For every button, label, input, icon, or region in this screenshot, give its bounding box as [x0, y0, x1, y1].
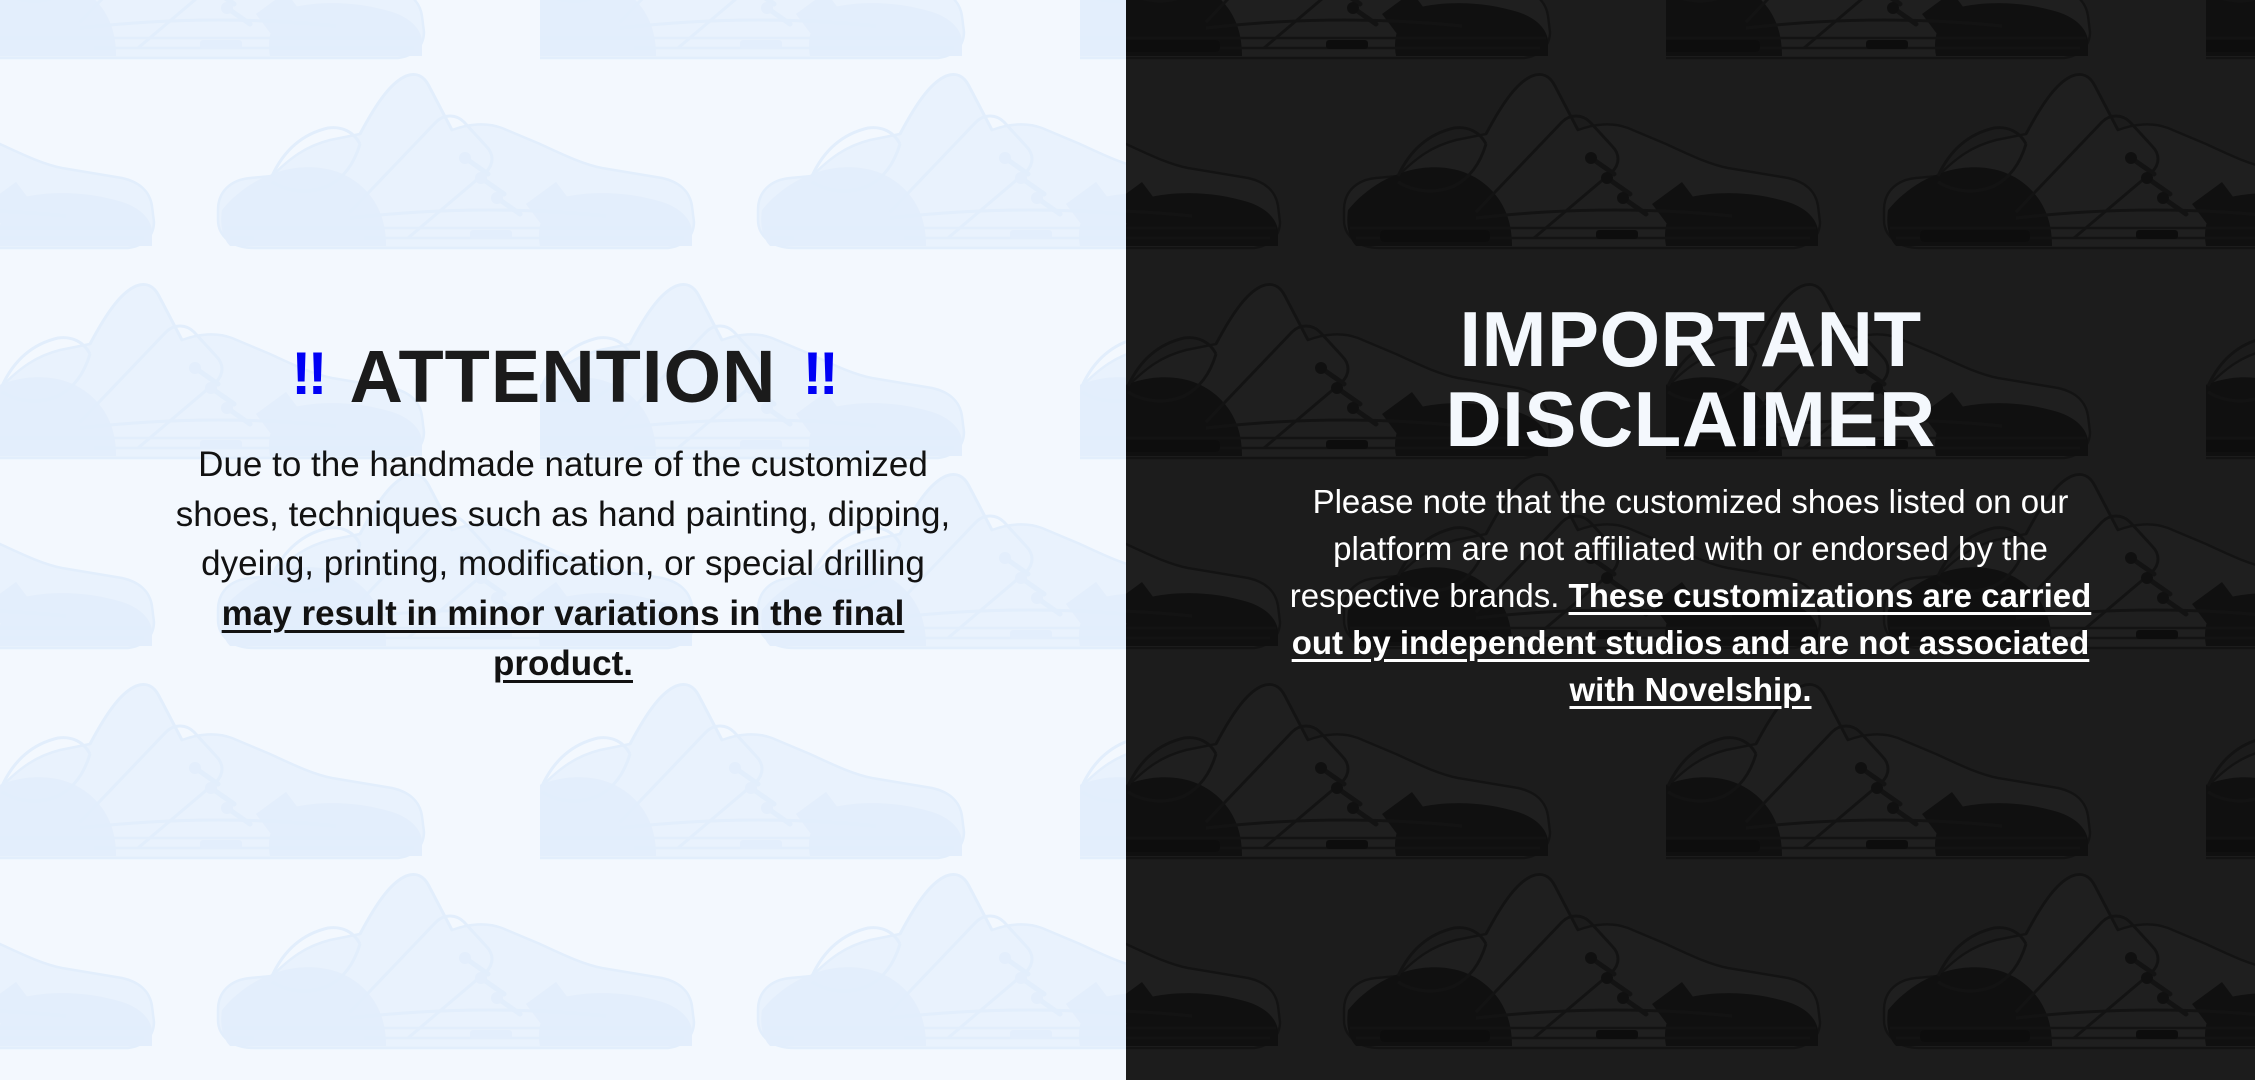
attention-body: Due to the handmade nature of the custom… [163, 440, 963, 688]
attention-body-plain: Due to the handmade nature of the custom… [176, 445, 950, 583]
disclaimer-body: Please note that the customized shoes li… [1281, 479, 2101, 713]
disclaimer-headline: IMPORTANT DISCLAIMER [1445, 300, 1935, 459]
attention-headline-text: ATTENTION [350, 340, 777, 414]
attention-content: ‼ ATTENTION ‼ Due to the handmade nature… [0, 0, 1126, 1080]
attention-headline: ‼ ATTENTION ‼ [291, 340, 834, 414]
disclaimer-panel: IMPORTANT DISCLAIMER Please note that th… [1126, 0, 2255, 1080]
attention-panel: ‼ ATTENTION ‼ Due to the handmade nature… [0, 0, 1126, 1080]
disclaimer-banner: ‼ ATTENTION ‼ Due to the handmade nature… [0, 0, 2255, 1080]
disclaimer-headline-line1: IMPORTANT [1445, 300, 1935, 380]
disclaimer-headline-line2: DISCLAIMER [1445, 380, 1935, 460]
attention-body-emphasis: may result in minor variations in the fi… [222, 594, 905, 683]
disclaimer-content: IMPORTANT DISCLAIMER Please note that th… [1126, 0, 2255, 1080]
double-exclamation-icon-right: ‼ [802, 344, 834, 404]
double-exclamation-icon-left: ‼ [291, 344, 323, 404]
